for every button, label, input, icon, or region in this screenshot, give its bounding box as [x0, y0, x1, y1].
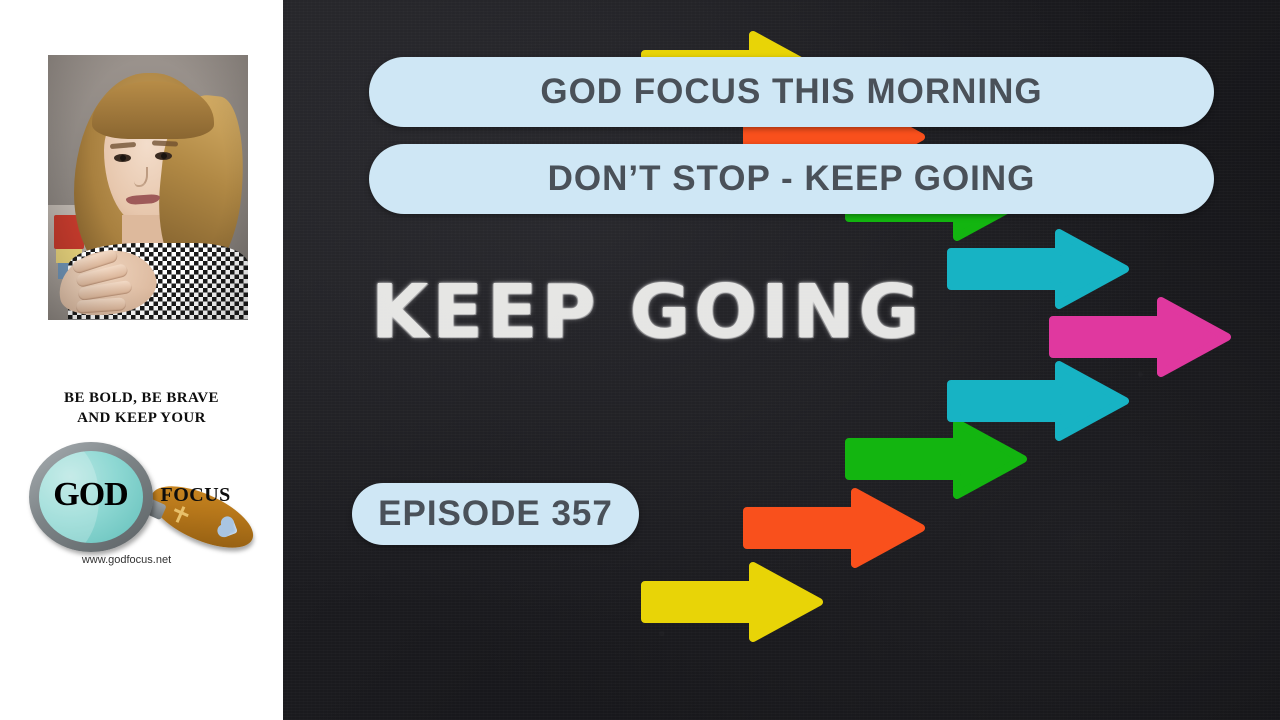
left-panel: BE BOLD, BE BRAVE AND KEEP YOUR GOD FOCU…	[0, 0, 283, 720]
subtitle-banner-text: DON’T STOP - KEEP GOING	[548, 159, 1036, 199]
logo-tagline-line2: AND KEEP YOUR	[0, 408, 283, 428]
chalkboard-background: KEEP GOING GOD FOCUS THIS MORNING DON’T …	[283, 0, 1280, 720]
chalk-headline: KEEP GOING	[371, 274, 941, 350]
godfocus-logo: BE BOLD, BE BRAVE AND KEEP YOUR GOD FOCU…	[0, 388, 283, 608]
subtitle-banner: DON’T STOP - KEEP GOING	[369, 144, 1214, 214]
website-url[interactable]: www.godfocus.net	[27, 554, 227, 566]
slide-canvas: BE BOLD, BE BRAVE AND KEEP YOUR GOD FOCU…	[0, 0, 1280, 720]
magnifying-glass-icon: GOD FOCUS www.godfocus.net	[27, 436, 257, 566]
episode-badge: EPISODE 357	[352, 483, 639, 545]
magnifier-ring: GOD	[29, 442, 153, 552]
episode-badge-text: EPISODE 357	[378, 494, 613, 534]
logo-focus-word: FOCUS	[161, 484, 231, 507]
logo-tagline-line1: BE BOLD, BE BRAVE	[0, 388, 283, 408]
photo-vignette	[48, 55, 248, 320]
title-banner: GOD FOCUS THIS MORNING	[369, 57, 1214, 127]
host-portrait-photo	[48, 55, 248, 320]
logo-god-word: GOD	[39, 478, 143, 512]
arrow-yellow-bottom	[641, 561, 823, 643]
title-banner-text: GOD FOCUS THIS MORNING	[540, 72, 1042, 112]
